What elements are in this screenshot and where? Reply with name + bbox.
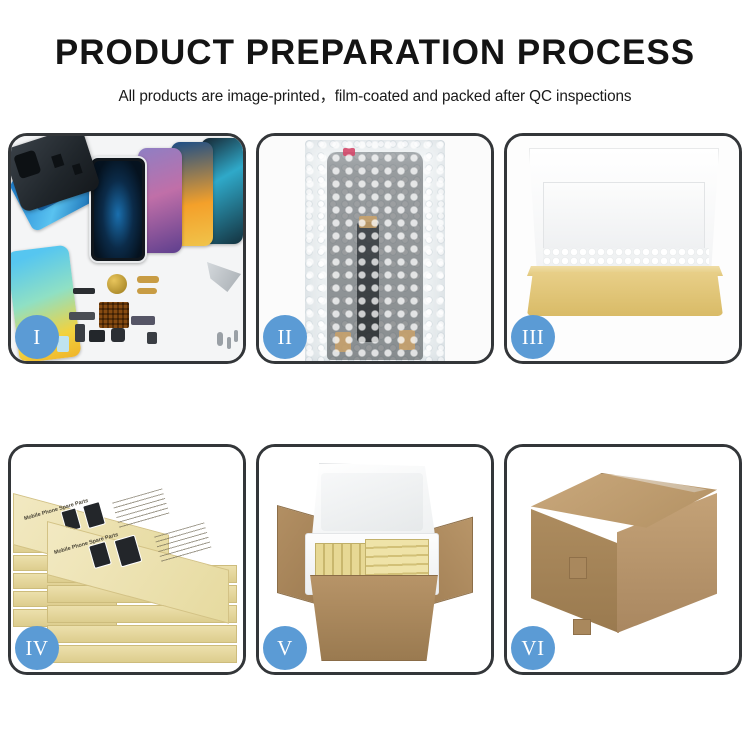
step-badge-5: V bbox=[263, 626, 307, 670]
step-card-2: II bbox=[256, 133, 494, 364]
page-subtitle: All products are image-printed，film-coat… bbox=[0, 84, 750, 106]
part-camera-module bbox=[89, 330, 105, 342]
box-print-spec-back bbox=[112, 488, 170, 529]
lcd-connector-right bbox=[399, 330, 415, 350]
box-print-spec-front bbox=[154, 522, 212, 563]
step-card-1: I bbox=[8, 133, 246, 364]
tweezers-icon bbox=[207, 262, 241, 292]
kraft-box-base bbox=[527, 272, 723, 316]
step-badge-4: IV bbox=[15, 626, 59, 670]
part-screw-tray bbox=[99, 302, 129, 328]
lcd-connector-top bbox=[359, 216, 377, 228]
part-sim-tray bbox=[147, 332, 157, 344]
tape-tab-lower bbox=[573, 619, 591, 635]
part-button-flex bbox=[75, 324, 85, 342]
steps-grid: I II bbox=[8, 133, 742, 675]
step-badge-1: I bbox=[15, 315, 59, 359]
part-flex-cable-1 bbox=[137, 276, 159, 283]
step-badge-3: III bbox=[511, 315, 555, 359]
part-connector-strip bbox=[69, 312, 95, 320]
step-card-3: III bbox=[504, 133, 742, 364]
carton-front-panel bbox=[303, 575, 445, 661]
product-preparation-infographic: PRODUCT PREPARATION PROCESS All products… bbox=[0, 0, 750, 750]
stack-box-r5 bbox=[47, 645, 237, 663]
step-card-6: VI bbox=[504, 444, 742, 675]
styrofoam-lid-inner bbox=[321, 473, 423, 531]
part-antenna-flex bbox=[131, 316, 155, 325]
stack-box-r4 bbox=[47, 625, 237, 643]
part-screws bbox=[217, 332, 223, 346]
step-card-4: Mobile Phone Spare Parts Mobile Phone Sp… bbox=[8, 444, 246, 675]
part-speaker-mesh bbox=[73, 288, 95, 294]
step-badge-6: VI bbox=[511, 626, 555, 670]
tape-tab-upper bbox=[569, 557, 587, 579]
page-title: PRODUCT PREPARATION PROCESS bbox=[0, 34, 750, 73]
part-vibration-motor bbox=[107, 274, 127, 294]
red-tape-marker bbox=[343, 148, 355, 156]
phone-screen-main bbox=[89, 156, 147, 263]
step-badge-2: II bbox=[263, 315, 307, 359]
lcd-flex-cable bbox=[357, 222, 379, 342]
part-taptic-engine bbox=[111, 328, 125, 342]
lcd-connector-left bbox=[335, 332, 351, 352]
header: PRODUCT PREPARATION PROCESS All products… bbox=[0, 0, 750, 106]
step-card-5: V bbox=[256, 444, 494, 675]
part-flex-cable-2 bbox=[137, 288, 157, 294]
